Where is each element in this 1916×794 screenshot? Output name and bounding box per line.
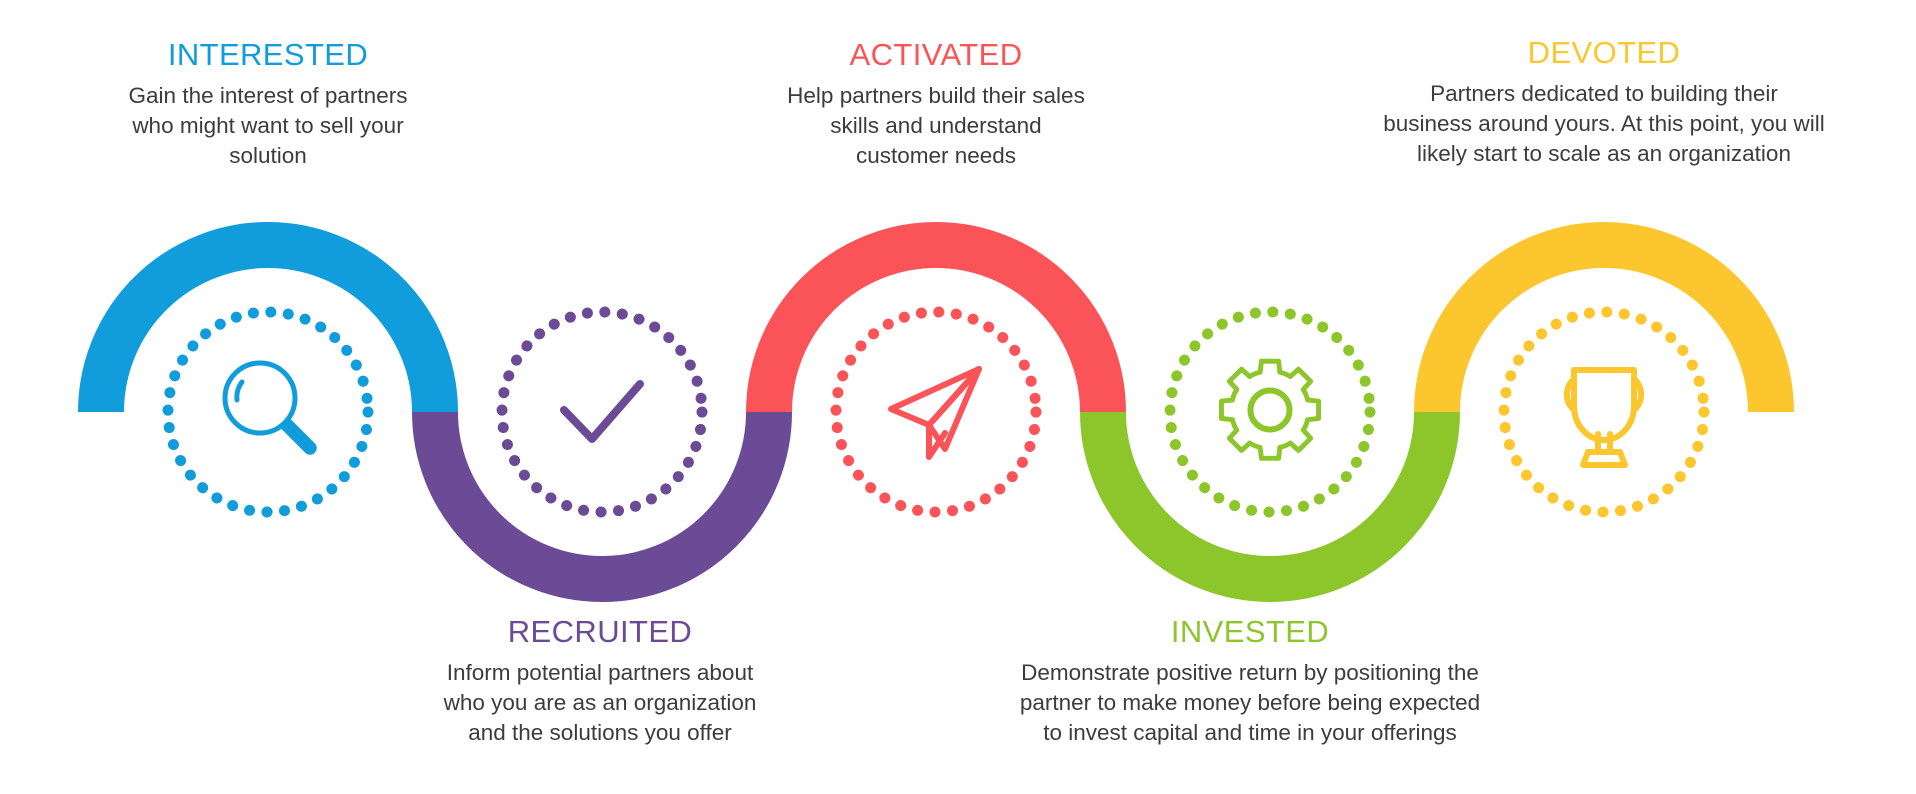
stage-desc-invested: Demonstrate positive return by positioni… <box>975 658 1525 748</box>
desc-line: Gain the interest of partners <box>78 81 458 111</box>
desc-line: Help partners build their sales <box>746 81 1126 111</box>
paper-plane-icon <box>891 369 979 457</box>
desc-line: and the solutions you offer <box>410 718 790 748</box>
stage-title-devoted: DEVOTED <box>1330 36 1878 70</box>
dotted-ring-devoted <box>1504 312 1704 512</box>
desc-line: Partners dedicated to building their <box>1330 79 1878 109</box>
stage-title-activated: ACTIVATED <box>746 38 1126 72</box>
stage-desc-recruited: Inform potential partners about who you … <box>410 658 790 748</box>
stage-block-invested: INVESTED Demonstrate positive return by … <box>975 615 1525 748</box>
stage-block-devoted: DEVOTED Partners dedicated to building t… <box>1330 36 1878 169</box>
dotted-ring-activated <box>836 312 1036 512</box>
magnifier-icon <box>225 363 314 452</box>
desc-line: who you are as an organization <box>410 688 790 718</box>
desc-line: likely start to scale as an organization <box>1330 139 1878 169</box>
dotted-ring-invested <box>1170 312 1370 512</box>
arc-group <box>101 245 1771 579</box>
arc-devoted <box>1437 245 1771 412</box>
desc-line: solution <box>78 141 458 171</box>
desc-line: partner to make money before being expec… <box>975 688 1525 718</box>
infographic-canvas: INTERESTED Gain the interest of partners… <box>0 0 1916 794</box>
desc-line: customer needs <box>746 141 1126 171</box>
stage-block-interested: INTERESTED Gain the interest of partners… <box>78 38 458 171</box>
stage-block-activated: ACTIVATED Help partners build their sale… <box>746 38 1126 171</box>
desc-line: who might want to sell your <box>78 111 458 141</box>
desc-line: Inform potential partners about <box>410 658 790 688</box>
stage-desc-activated: Help partners build their sales skills a… <box>746 81 1126 171</box>
desc-line: Demonstrate positive return by positioni… <box>975 658 1525 688</box>
arc-invested <box>1103 412 1437 579</box>
dotted-ring-interested <box>168 312 368 512</box>
desc-line: business around yours. At this point, yo… <box>1330 109 1878 139</box>
stage-title-invested: INVESTED <box>975 615 1525 649</box>
arc-recruited <box>435 412 769 579</box>
desc-line: skills and understand <box>746 111 1126 141</box>
stage-desc-devoted: Partners dedicated to building their bus… <box>1330 79 1878 169</box>
desc-line: to invest capital and time in your offer… <box>975 718 1525 748</box>
stage-title-interested: INTERESTED <box>78 38 458 72</box>
checkmark-icon <box>564 384 640 439</box>
stage-title-recruited: RECRUITED <box>410 615 790 649</box>
stage-block-recruited: RECRUITED Inform potential partners abou… <box>410 615 790 748</box>
stage-desc-interested: Gain the interest of partners who might … <box>78 81 458 171</box>
trophy-icon <box>1567 370 1641 465</box>
dotted-ring-recruited <box>502 312 702 512</box>
arc-interested <box>101 245 435 412</box>
gear-icon <box>1221 361 1330 458</box>
